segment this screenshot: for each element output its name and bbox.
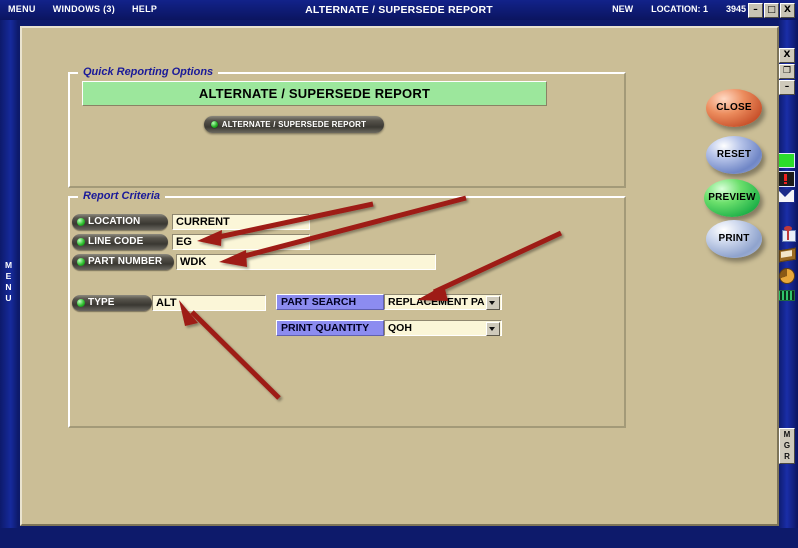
left-rail-menu-label[interactable]: MENU (0, 260, 18, 304)
part-search-label: PART SEARCH (276, 294, 384, 310)
rail-close-icon[interactable]: X (779, 48, 795, 63)
alert-bar (784, 174, 787, 181)
window-controls: – □ X (748, 3, 795, 18)
led-indicator-icon (77, 299, 85, 307)
location-input[interactable]: CURRENT (172, 214, 310, 230)
bar-meter-icon[interactable] (777, 290, 795, 301)
part-search-dropdown[interactable]: REPLACEMENT PART (384, 294, 502, 310)
print-quantity-label: PRINT QUANTITY (276, 320, 384, 336)
close-action-button[interactable]: CLOSE (706, 89, 762, 127)
pie-chart-icon[interactable] (779, 268, 795, 284)
envelope-mail-icon[interactable] (777, 189, 795, 203)
envelope-flap (778, 190, 792, 197)
led-indicator-icon (211, 121, 218, 128)
line-code-input[interactable]: EG (172, 234, 310, 250)
alternate-supersede-report-button-label: ALTERNATE / SUPERSEDE REPORT (222, 120, 366, 129)
close-button[interactable]: X (780, 3, 795, 18)
alert-exclamation-icon[interactable] (777, 171, 795, 187)
workspace: Quick Reporting Options ALTERNATE / SUPE… (20, 26, 779, 526)
led-indicator-icon (77, 258, 85, 266)
chevron-down-icon[interactable] (486, 296, 500, 310)
maximize-button[interactable]: □ (764, 3, 779, 18)
part-number-label: PART NUMBER (88, 256, 162, 267)
title-status-group: NEW LOCATION: 1 3945 (612, 4, 746, 14)
monitor-screen-icon[interactable] (777, 153, 795, 168)
part-number-input[interactable]: WDK (176, 254, 436, 270)
left-rail: MENU (0, 20, 18, 528)
report-title-banner: ALTERNATE / SUPERSEDE REPORT (82, 81, 547, 106)
print-action-button[interactable]: PRINT (706, 220, 762, 258)
minimize-button[interactable]: – (748, 3, 763, 18)
rail-restore-icon[interactable]: ❐ (779, 64, 795, 79)
right-rail: X ❐ – MGR (778, 20, 798, 528)
location-label-button[interactable]: LOCATION (72, 214, 168, 230)
status-code: 3945 (726, 4, 746, 14)
type-input[interactable]: ALT (152, 295, 266, 311)
status-location: LOCATION: 1 (651, 4, 708, 14)
report-criteria-group: Report Criteria (68, 196, 626, 428)
gift-bow (784, 226, 792, 231)
book-icon[interactable] (779, 247, 795, 260)
line-code-label: LINE CODE (88, 236, 143, 247)
type-label-button[interactable]: TYPE (72, 295, 152, 311)
alternate-supersede-report-button[interactable]: ALTERNATE / SUPERSEDE REPORT (204, 116, 384, 133)
quick-reporting-options-legend: Quick Reporting Options (78, 66, 218, 78)
report-criteria-legend: Report Criteria (78, 190, 165, 202)
print-quantity-dropdown[interactable]: QOH (384, 320, 502, 336)
rail-minimize-icon[interactable]: – (779, 80, 795, 95)
chevron-down-icon[interactable] (486, 322, 500, 336)
location-label: LOCATION (88, 216, 140, 227)
line-code-label-button[interactable]: LINE CODE (72, 234, 168, 250)
print-quantity-value: QOH (388, 321, 485, 335)
gift-body (782, 230, 796, 242)
type-label: TYPE (88, 297, 115, 308)
led-indicator-icon (77, 238, 85, 246)
part-number-label-button[interactable]: PART NUMBER (72, 254, 174, 270)
led-indicator-icon (77, 218, 85, 226)
alert-dot (784, 182, 787, 184)
mgr-button[interactable]: MGR (779, 428, 795, 464)
status-new: NEW (612, 4, 633, 14)
preview-action-button[interactable]: PREVIEW (704, 179, 760, 217)
gift-ribbon (787, 230, 789, 240)
reset-action-button[interactable]: RESET (706, 136, 762, 174)
part-search-value: REPLACEMENT PART (388, 295, 485, 309)
gift-box-icon[interactable] (781, 226, 795, 240)
title-bar: MENU WINDOWS (3) HELP ALTERNATE / SUPERS… (0, 0, 798, 20)
